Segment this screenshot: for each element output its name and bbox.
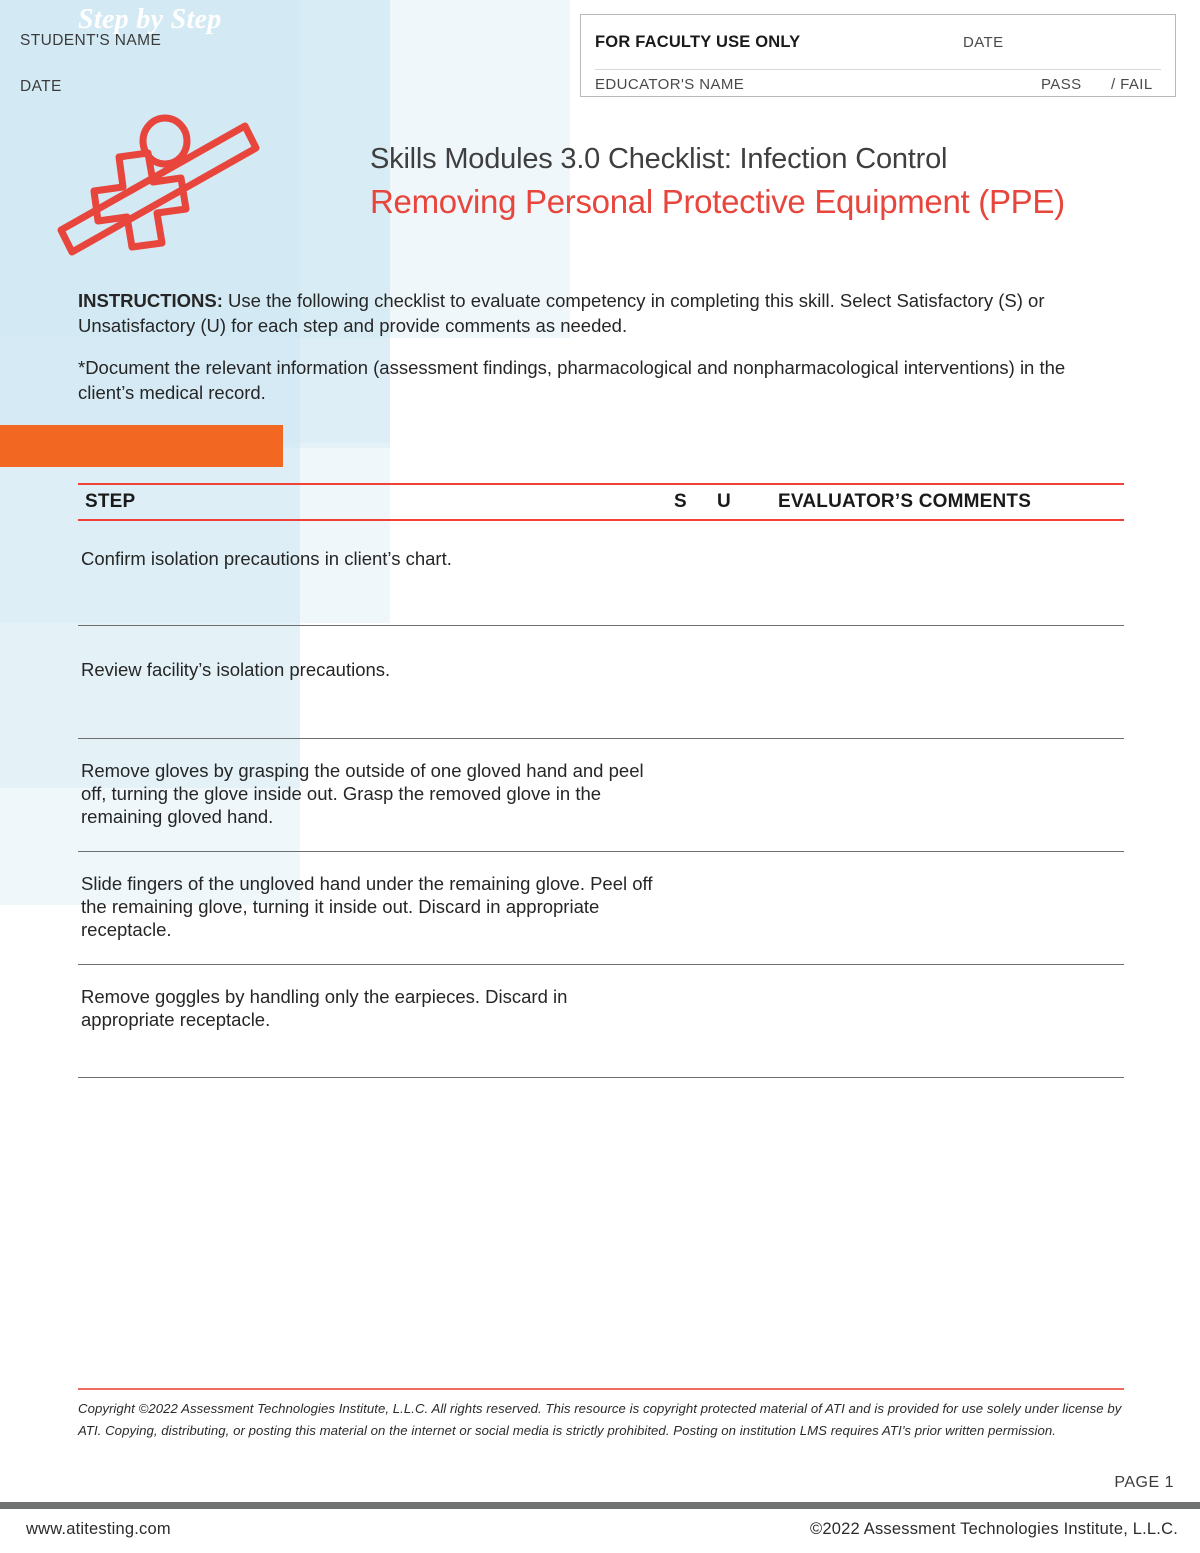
step-text: Review facility’s isolation precautions. bbox=[81, 658, 661, 681]
instructions-body: Use the following checklist to evaluate … bbox=[78, 290, 1044, 336]
step-by-step-banner bbox=[0, 425, 283, 467]
faculty-box-row-top: FOR FACULTY USE ONLY DATE bbox=[595, 33, 1161, 55]
fail-label[interactable]: / FAIL bbox=[1111, 76, 1153, 93]
instructions-label: INSTRUCTIONS: bbox=[78, 290, 223, 311]
table-row[interactable]: Confirm isolation precautions in client’… bbox=[78, 521, 1124, 626]
document-page: STUDENT'S NAME DATE FOR FACULTY USE ONLY… bbox=[0, 0, 1200, 1553]
instructions-section: INSTRUCTIONS: Use the following checklis… bbox=[78, 288, 1078, 405]
step-text: Remove goggles by handling only the earp… bbox=[81, 985, 661, 1031]
copyright-divider bbox=[78, 1388, 1124, 1390]
faculty-use-only-title: FOR FACULTY USE ONLY bbox=[595, 33, 800, 52]
footer-copyright: ©2022 Assessment Technologies Institute,… bbox=[810, 1520, 1178, 1539]
title-subtitle-line: Skills Modules 3.0 Checklist: Infection … bbox=[370, 140, 1170, 178]
faculty-use-only-box: FOR FACULTY USE ONLY DATE EDUCATOR'S NAM… bbox=[580, 14, 1176, 97]
faculty-box-row-bottom: EDUCATOR'S NAME PASS / FAIL bbox=[595, 69, 1161, 91]
copyright-section: Copyright ©2022 Assessment Technologies … bbox=[78, 1388, 1124, 1442]
step-text: Slide fingers of the ungloved hand under… bbox=[81, 872, 661, 941]
step-text: Remove gloves by grasping the outside of… bbox=[81, 759, 661, 828]
column-header-evaluators-comments: EVALUATOR’S COMMENTS bbox=[778, 491, 1031, 513]
step-by-step-label: Step by Step bbox=[78, 4, 222, 36]
table-row[interactable]: Remove goggles by handling only the earp… bbox=[78, 965, 1124, 1078]
pass-label[interactable]: PASS bbox=[1041, 76, 1082, 93]
footer-website[interactable]: www.atitesting.com bbox=[26, 1520, 171, 1539]
table-row[interactable]: Remove gloves by grasping the outside of… bbox=[78, 739, 1124, 852]
page-title: Skills Modules 3.0 Checklist: Infection … bbox=[370, 140, 1170, 224]
instructions-paragraph-1: INSTRUCTIONS: Use the following checklis… bbox=[78, 288, 1078, 338]
column-header-unsatisfactory: U bbox=[717, 491, 731, 513]
student-date-label: DATE bbox=[20, 78, 62, 96]
column-header-step: STEP bbox=[85, 491, 135, 513]
educator-name-label: EDUCATOR'S NAME bbox=[595, 76, 744, 93]
instructions-paragraph-2: *Document the relevant information (asse… bbox=[78, 355, 1078, 405]
checklist-table: STEP S U EVALUATOR’S COMMENTS Confirm is… bbox=[78, 483, 1124, 1078]
table-header-row: STEP S U EVALUATOR’S COMMENTS bbox=[78, 485, 1124, 519]
table-row[interactable]: Slide fingers of the ungloved hand under… bbox=[78, 852, 1124, 965]
step-text: Confirm isolation precautions in client’… bbox=[81, 547, 661, 570]
faculty-date-label: DATE bbox=[963, 34, 1004, 51]
copyright-text: Copyright ©2022 Assessment Technologies … bbox=[78, 1398, 1124, 1442]
page-number: PAGE 1 bbox=[1114, 1474, 1174, 1492]
table-row[interactable]: Review facility’s isolation precautions. bbox=[78, 626, 1124, 739]
footer-divider-bar bbox=[0, 1502, 1200, 1509]
column-header-satisfactory: S bbox=[674, 491, 687, 513]
ati-logo-icon bbox=[52, 112, 264, 270]
title-main-line: Removing Personal Protective Equipment (… bbox=[370, 180, 1170, 224]
